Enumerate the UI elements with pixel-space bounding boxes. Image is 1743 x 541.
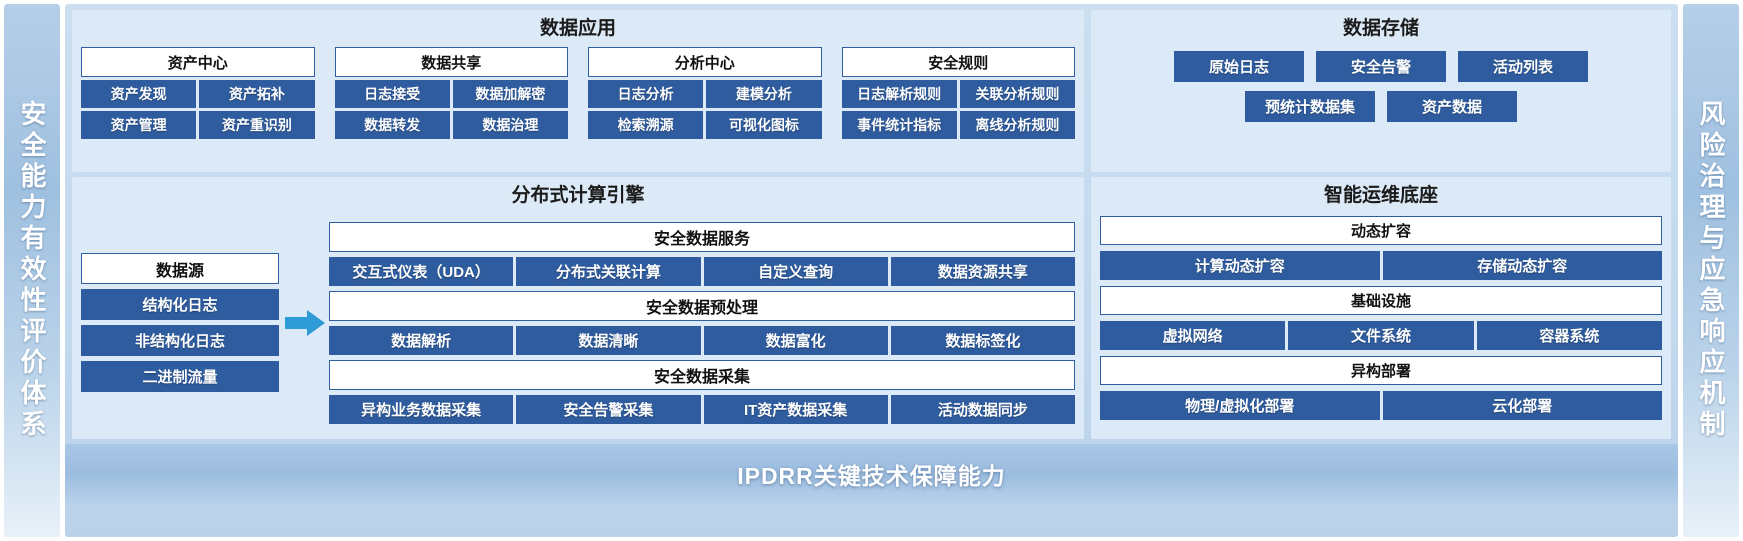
footer-label: IPDRR关键技术保障能力 <box>737 457 1006 491</box>
datasource-binary-traffic[interactable]: 二进制流量 <box>81 361 279 392</box>
cell-asset-reidentify[interactable]: 资产重识别 <box>199 111 314 139</box>
group-row: 日志接受 数据加解密 <box>335 80 569 108</box>
engine-layers: 安全数据服务 交互式仪表（UDA） 分布式关联计算 自定义查询 数据资源共享 安… <box>329 214 1075 431</box>
group-analysis-center: 分析中心 日志分析 建模分析 检索溯源 可视化图标 <box>588 47 822 139</box>
group-header-asset-center[interactable]: 资产中心 <box>81 47 315 77</box>
data-storage-chips: 原始日志 安全告警 活动列表 预统计数据集 资产数据 <box>1100 51 1662 122</box>
cell-log-receive[interactable]: 日志接受 <box>335 80 450 108</box>
cell-search-trace[interactable]: 检索溯源 <box>588 111 703 139</box>
group-header-data-sharing[interactable]: 数据共享 <box>335 47 569 77</box>
cell-activity-sync[interactable]: 活动数据同步 <box>891 395 1075 424</box>
cell-custom-query[interactable]: 自定义查询 <box>704 257 888 286</box>
cell-it-asset-collection[interactable]: IT资产数据采集 <box>704 395 888 424</box>
right-arrow-icon <box>285 310 325 336</box>
cell-virtual-network[interactable]: 虚拟网络 <box>1100 321 1285 350</box>
layer-row-data-service: 交互式仪表（UDA） 分布式关联计算 自定义查询 数据资源共享 <box>329 257 1075 286</box>
cell-storage-scaling[interactable]: 存储动态扩容 <box>1383 251 1663 280</box>
cell-data-forward[interactable]: 数据转发 <box>335 111 450 139</box>
group-row: 日志分析 建模分析 <box>588 80 822 108</box>
panel-data-storage: 数据存储 原始日志 安全告警 活动列表 预统计数据集 资产数据 <box>1091 10 1671 172</box>
group-security-rules: 安全规则 日志解析规则 关联分析规则 事件统计指标 离线分析规则 <box>842 47 1076 139</box>
cell-event-metrics[interactable]: 事件统计指标 <box>842 111 957 139</box>
cell-security-alert-collection[interactable]: 安全告警采集 <box>516 395 700 424</box>
flow-arrow <box>281 214 329 431</box>
data-application-groups: 资产中心 资产发现 资产拓补 资产管理 资产重识别 数据共享 <box>81 47 1075 139</box>
cell-asset-management[interactable]: 资产管理 <box>81 111 196 139</box>
cell-file-system[interactable]: 文件系统 <box>1288 321 1473 350</box>
panel-compute-engine: 分布式计算引擎 数据源 结构化日志 非结构化日志 二进制流量 <box>72 177 1084 439</box>
group-header-analysis-center[interactable]: 分析中心 <box>588 47 822 77</box>
panel-title-data-application: 数据应用 <box>81 16 1075 42</box>
ops-header-dynamic-scaling[interactable]: 动态扩容 <box>1100 216 1662 245</box>
cell-data-resource-sharing[interactable]: 数据资源共享 <box>891 257 1075 286</box>
group-asset-center: 资产中心 资产发现 资产拓补 资产管理 资产重识别 <box>81 47 315 139</box>
ops-layers: 动态扩容 计算动态扩容 存储动态扩容 基础设施 虚拟网络 文件系统 容器系统 异… <box>1100 216 1662 420</box>
chip-asset-data[interactable]: 资产数据 <box>1387 91 1517 122</box>
panel-title-compute-engine: 分布式计算引擎 <box>81 183 1075 209</box>
cell-data-encryption[interactable]: 数据加解密 <box>453 80 568 108</box>
architecture-diagram: 安全能力有效性评价体系 数据应用 资产中心 资产发现 资产拓补 资产管理 <box>0 0 1743 541</box>
panel-title-ops-base: 智能运维底座 <box>1100 183 1662 209</box>
layer-header-collection[interactable]: 安全数据采集 <box>329 360 1075 390</box>
cell-data-tagging[interactable]: 数据标签化 <box>891 326 1075 355</box>
chip-prestat-dataset[interactable]: 预统计数据集 <box>1245 91 1375 122</box>
cell-asset-discovery[interactable]: 资产发现 <box>81 80 196 108</box>
ops-row-infrastructure: 虚拟网络 文件系统 容器系统 <box>1100 321 1662 350</box>
layer-header-data-service[interactable]: 安全数据服务 <box>329 222 1075 252</box>
cell-physical-virtual-deploy[interactable]: 物理/虚拟化部署 <box>1100 391 1380 420</box>
cell-log-parse-rule[interactable]: 日志解析规则 <box>842 80 957 108</box>
datasource-header[interactable]: 数据源 <box>81 253 279 284</box>
cell-log-analysis[interactable]: 日志分析 <box>588 80 703 108</box>
cell-data-governance[interactable]: 数据治理 <box>453 111 568 139</box>
group-header-security-rules[interactable]: 安全规则 <box>842 47 1076 77</box>
left-banner-label: 安全能力有效性评价体系 <box>19 100 45 441</box>
top-row: 数据应用 资产中心 资产发现 资产拓补 资产管理 资产重识别 <box>72 10 1671 172</box>
left-vertical-banner: 安全能力有效性评价体系 <box>4 4 60 537</box>
right-vertical-banner: 风险治理与应急响应机制 <box>1683 4 1739 537</box>
storage-row: 预统计数据集 资产数据 <box>1245 91 1517 122</box>
cell-interactive-dashboard[interactable]: 交互式仪表（UDA） <box>329 257 513 286</box>
panel-ops-base: 智能运维底座 动态扩容 计算动态扩容 存储动态扩容 基础设施 虚拟网络 文件系统… <box>1091 177 1671 439</box>
group-row: 资产管理 资产重识别 <box>81 111 315 139</box>
cell-correlation-rule[interactable]: 关联分析规则 <box>960 80 1075 108</box>
storage-row: 原始日志 安全告警 活动列表 <box>1174 51 1588 82</box>
layer-row-collection: 异构业务数据采集 安全告警采集 IT资产数据采集 活动数据同步 <box>329 395 1075 424</box>
cell-data-enrich[interactable]: 数据富化 <box>704 326 888 355</box>
ops-header-infrastructure[interactable]: 基础设施 <box>1100 286 1662 315</box>
ops-row-heterogeneous-deploy: 物理/虚拟化部署 云化部署 <box>1100 391 1662 420</box>
cell-modeling-analysis[interactable]: 建模分析 <box>706 80 821 108</box>
bottom-row: 分布式计算引擎 数据源 结构化日志 非结构化日志 二进制流量 <box>72 177 1671 439</box>
diagram-stage: 数据应用 资产中心 资产发现 资产拓补 资产管理 资产重识别 <box>65 4 1678 537</box>
cell-asset-expansion[interactable]: 资产拓补 <box>199 80 314 108</box>
chip-activity-list[interactable]: 活动列表 <box>1458 51 1588 82</box>
group-row: 资产发现 资产拓补 <box>81 80 315 108</box>
cell-visual-chart[interactable]: 可视化图标 <box>706 111 821 139</box>
right-banner-label: 风险治理与应急响应机制 <box>1698 100 1724 441</box>
chip-raw-log[interactable]: 原始日志 <box>1174 51 1304 82</box>
cell-compute-scaling[interactable]: 计算动态扩容 <box>1100 251 1380 280</box>
ops-row-dynamic-scaling: 计算动态扩容 存储动态扩容 <box>1100 251 1662 280</box>
panel-data-application: 数据应用 资产中心 资产发现 资产拓补 资产管理 资产重识别 <box>72 10 1084 172</box>
footer-band: IPDRR关键技术保障能力 <box>65 444 1678 504</box>
cell-container-system[interactable]: 容器系统 <box>1477 321 1662 350</box>
layer-row-preprocess: 数据解析 数据清晰 数据富化 数据标签化 <box>329 326 1075 355</box>
panel-title-data-storage: 数据存储 <box>1100 16 1662 42</box>
cell-distributed-correlation[interactable]: 分布式关联计算 <box>516 257 700 286</box>
group-row: 检索溯源 可视化图标 <box>588 111 822 139</box>
compute-engine-body: 数据源 结构化日志 非结构化日志 二进制流量 安全数据服务 交互式仪表（U <box>81 214 1075 431</box>
datasource-unstructured-log[interactable]: 非结构化日志 <box>81 325 279 356</box>
cell-heterogeneous-business-collection[interactable]: 异构业务数据采集 <box>329 395 513 424</box>
group-row: 数据转发 数据治理 <box>335 111 569 139</box>
ops-header-heterogeneous-deploy[interactable]: 异构部署 <box>1100 356 1662 385</box>
group-data-sharing: 数据共享 日志接受 数据加解密 数据转发 数据治理 <box>335 47 569 139</box>
cell-data-parse[interactable]: 数据解析 <box>329 326 513 355</box>
group-row: 事件统计指标 离线分析规则 <box>842 111 1076 139</box>
cell-offline-rule[interactable]: 离线分析规则 <box>960 111 1075 139</box>
chip-security-alert[interactable]: 安全告警 <box>1316 51 1446 82</box>
layer-header-preprocess[interactable]: 安全数据预处理 <box>329 291 1075 321</box>
group-row: 日志解析规则 关联分析规则 <box>842 80 1076 108</box>
cell-data-clean[interactable]: 数据清晰 <box>516 326 700 355</box>
cell-cloud-deploy[interactable]: 云化部署 <box>1383 391 1663 420</box>
datasource-structured-log[interactable]: 结构化日志 <box>81 289 279 320</box>
datasource-column: 数据源 结构化日志 非结构化日志 二进制流量 <box>81 214 281 431</box>
